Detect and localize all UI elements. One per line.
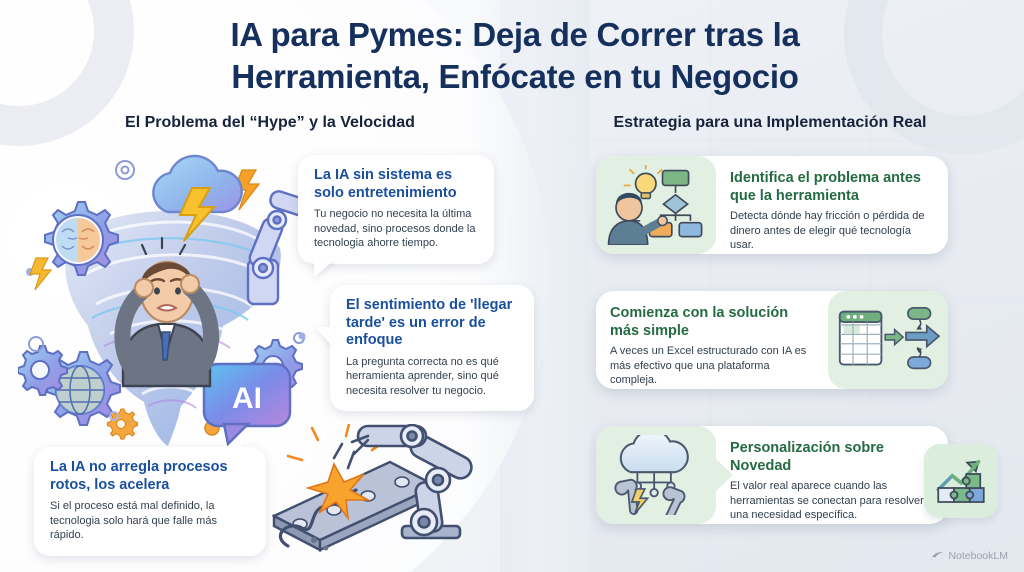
puzzle-growth-icon: [933, 453, 989, 509]
strategy-card-1-thumb: [596, 156, 716, 254]
bubble-tail: [315, 327, 333, 347]
problem-card-2-body: La pregunta correcta no es qué herramien…: [346, 355, 518, 399]
problem-card-1-body: Tu negocio no necesita la última novedad…: [314, 207, 478, 251]
strategy-card-3-body: El valor real aparece cuando las herrami…: [730, 479, 932, 523]
strategy-card-2-body-wrap: Comienza con la solución más simple A ve…: [596, 291, 828, 389]
problem-card-3-heading: La IA no arregla procesos rotos, los ace…: [50, 459, 250, 494]
watermark: NotebookLM: [931, 550, 1008, 562]
growth-puzzle-badge: [924, 444, 998, 518]
bubble-tail: [222, 433, 242, 451]
problem-card-3: La IA no arregla procesos rotos, los ace…: [34, 447, 266, 556]
problem-card-3-body: Si el proceso está mal definido, la tecn…: [50, 499, 250, 543]
infographic-canvas: IA para Pymes: Deja de Correr tras la He…: [0, 0, 1024, 572]
strategy-card-2: Comienza con la solución más simple A ve…: [596, 291, 948, 389]
spreadsheet-workflow-icon: [836, 302, 940, 378]
problem-card-1: La IA sin sistema es solo entretenimient…: [298, 155, 494, 264]
bubble-tail: [314, 258, 336, 278]
section-title-problem: El Problema del “Hype” y la Velocidad: [60, 114, 480, 132]
problem-card-2-heading: El sentimiento de 'llegar tarde' es un e…: [346, 297, 518, 350]
section-title-strategy: Estrategia para una Implementación Real: [560, 114, 980, 132]
strategy-card-3: Personalización sobre Novedad El valor r…: [596, 426, 948, 524]
page-title: IA para Pymes: Deja de Correr tras la He…: [150, 14, 880, 98]
strategy-card-3-thumb: [596, 426, 716, 524]
watermark-label: NotebookLM: [948, 550, 1008, 562]
strategy-card-3-body-wrap: Personalización sobre Novedad El valor r…: [716, 426, 948, 524]
strategy-card-1-body-wrap: Identifica el problema antes que la herr…: [716, 156, 948, 254]
strategy-card-3-heading: Personalización sobre Novedad: [730, 440, 932, 475]
strategy-card-2-heading: Comienza con la solución más simple: [610, 305, 812, 340]
stressed-businessman-ai-tornado-illustration: AI: [18, 148, 328, 448]
cloud-tools-icon: [604, 435, 708, 515]
strategy-card-2-thumb: [828, 291, 948, 389]
notebooklm-logo-icon: [931, 551, 944, 561]
strategy-card-1: Identifica el problema antes que la herr…: [596, 156, 948, 254]
flowchart-presenter-icon: [604, 165, 708, 245]
strategy-card-1-body: Detecta dónde hay fricción o pérdida de …: [730, 209, 932, 253]
strategy-card-1-heading: Identifica el problema antes que la herr…: [730, 170, 932, 205]
broken-conveyor-robot-arm-illustration: [272, 424, 524, 554]
problem-card-1-heading: La IA sin sistema es solo entretenimient…: [314, 167, 478, 202]
problem-card-2: El sentimiento de 'llegar tarde' es un e…: [330, 285, 534, 411]
svg-text:AI: AI: [232, 382, 262, 415]
strategy-card-2-body: A veces un Excel estructurado con IA es …: [610, 344, 812, 388]
